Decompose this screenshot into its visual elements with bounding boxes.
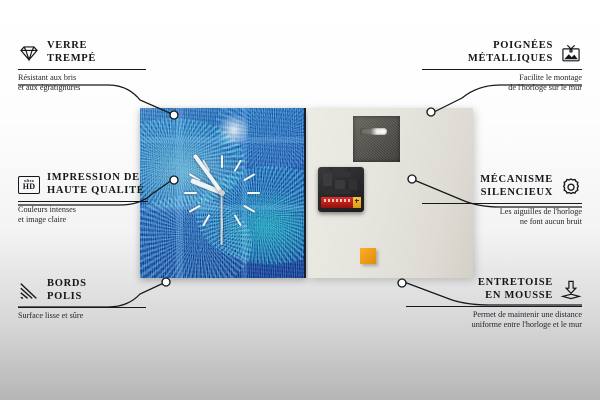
callout-description: Surface lisse et sûre [18, 311, 146, 322]
clock-dial [140, 108, 304, 278]
callout-divider [422, 69, 582, 70]
battery-plus-icon [355, 199, 359, 203]
callout-divider [406, 306, 582, 307]
movement-detail [323, 173, 332, 186]
callout-title: MÉCANISMESILENCIEUX [480, 174, 553, 200]
callout-description: Permet de maintenir une distanceuniforme… [406, 310, 582, 332]
callout-description: Couleurs intenseset image claire [18, 205, 148, 227]
foam-spacer [360, 248, 376, 264]
keyhole-slot [360, 128, 387, 135]
ultra-hd-icon: ultra HD [18, 174, 40, 196]
metal-hanger-bracket [353, 116, 400, 162]
callout-mecanisme-silencieux: MÉCANISMESILENCIEUX Les aiguilles de l'h… [422, 174, 582, 228]
callout-description: Les aiguilles de l'horlogene font aucun … [422, 207, 582, 229]
gear-icon [560, 176, 582, 198]
foam-spacer-arrow-icon [560, 279, 582, 301]
callout-title: IMPRESSION DEHAUTE QUALITÉ [47, 172, 145, 198]
battery-label [324, 199, 352, 202]
movement-detail [335, 180, 345, 189]
diamond-icon [18, 42, 40, 64]
callout-title: ENTRETOISEEN MOUSSE [478, 277, 553, 303]
callout-divider [422, 203, 582, 204]
picture-frame-hanger-icon [560, 42, 582, 64]
infographic-stage: VERRETREMPÉ Résistant aux briset aux égr… [0, 0, 600, 400]
callout-header: ultra HD IMPRESSION DEHAUTE QUALITÉ [18, 172, 148, 198]
callout-impression-haute-qualite: ultra HD IMPRESSION DEHAUTE QUALITÉ Coul… [18, 172, 148, 226]
connector-dot-bords-polis [162, 278, 170, 286]
callout-poignees-metalliques: POIGNÉESMÉTALLIQUES Facilite le montaged… [422, 40, 582, 94]
callout-header: POIGNÉESMÉTALLIQUES [422, 40, 582, 66]
callout-divider [18, 69, 146, 70]
center-pin [219, 190, 225, 196]
callout-title: VERRETREMPÉ [47, 40, 96, 66]
quartz-movement-box [318, 167, 364, 212]
ultra-hd-icon-bottom-text: HD [23, 183, 35, 191]
movement-hook [330, 167, 350, 171]
callout-title: POIGNÉESMÉTALLIQUES [468, 40, 553, 66]
battery [321, 197, 361, 208]
callout-header: ENTRETOISEEN MOUSSE [406, 277, 582, 303]
callout-entretoise-en-mousse: ENTRETOISEEN MOUSSE Permet de maintenir … [406, 277, 582, 331]
clock-face [140, 108, 306, 278]
callout-header: BORDSPOLIS [18, 278, 146, 304]
callout-header: MÉCANISMESILENCIEUX [422, 174, 582, 200]
callout-bords-polis: BORDSPOLIS Surface lisse et sûre [18, 278, 146, 321]
movement-detail [323, 189, 351, 194]
callout-verre-trempe: VERRETREMPÉ Résistant aux briset aux égr… [18, 40, 146, 94]
callout-divider [18, 307, 146, 308]
callout-title: BORDSPOLIS [47, 278, 87, 304]
callout-divider [18, 201, 148, 202]
connector-dot-entretoise [398, 279, 406, 287]
callout-description: Résistant aux briset aux égratignures [18, 73, 146, 95]
second-hand [221, 193, 223, 245]
movement-detail [335, 172, 351, 177]
callout-description: Facilite le montagede l'horloge sur le m… [422, 73, 582, 95]
callout-header: VERRETREMPÉ [18, 40, 146, 66]
polished-edges-icon [18, 280, 40, 302]
